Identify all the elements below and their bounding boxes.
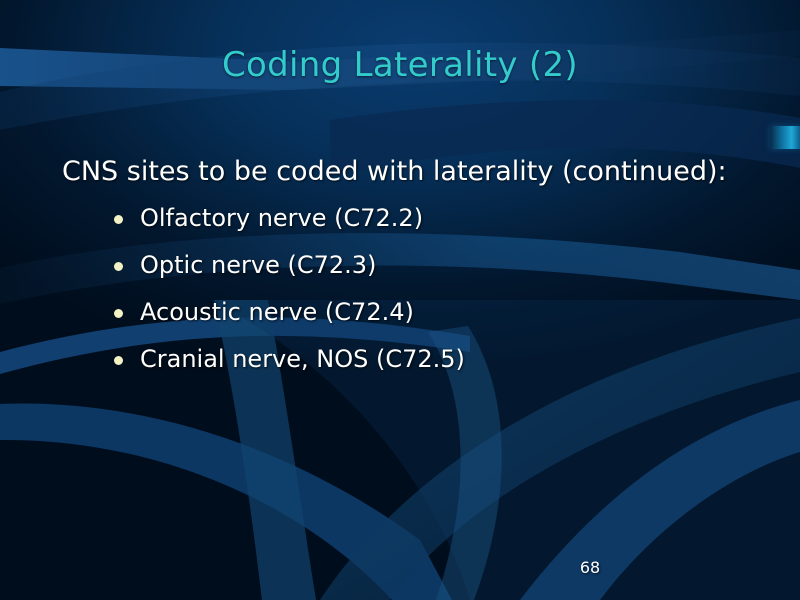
slide-body: CNS sites to be coded with laterality (c…: [62, 154, 752, 391]
bullet-dot-icon: [114, 356, 123, 365]
bullet-dot-icon: [114, 262, 123, 271]
list-item: Acoustic nerve (C72.4): [62, 297, 752, 327]
list-item-label: Olfactory nerve (C72.2): [140, 204, 423, 232]
list-item-label: Acoustic nerve (C72.4): [140, 298, 414, 326]
list-item-label: Cranial nerve, NOS (C72.5): [140, 345, 465, 373]
bullet-dot-icon: [114, 215, 123, 224]
list-item-label: Optic nerve (C72.3): [140, 251, 376, 279]
slide-page-number: 68: [560, 558, 620, 578]
slide-intro-text: CNS sites to be coded with laterality (c…: [62, 154, 752, 189]
list-item: Optic nerve (C72.3): [62, 250, 752, 280]
bullet-dot-icon: [114, 309, 123, 318]
slide-title: Coding Laterality (2): [0, 44, 800, 86]
list-item: Cranial nerve, NOS (C72.5): [62, 344, 752, 374]
list-item: Olfactory nerve (C72.2): [62, 203, 752, 233]
presentation-slide: Coding Laterality (2) CNS sites to be co…: [0, 0, 800, 600]
ribbon-accent-icon: [770, 126, 800, 149]
bullet-list: Olfactory nerve (C72.2) Optic nerve (C72…: [62, 203, 752, 374]
